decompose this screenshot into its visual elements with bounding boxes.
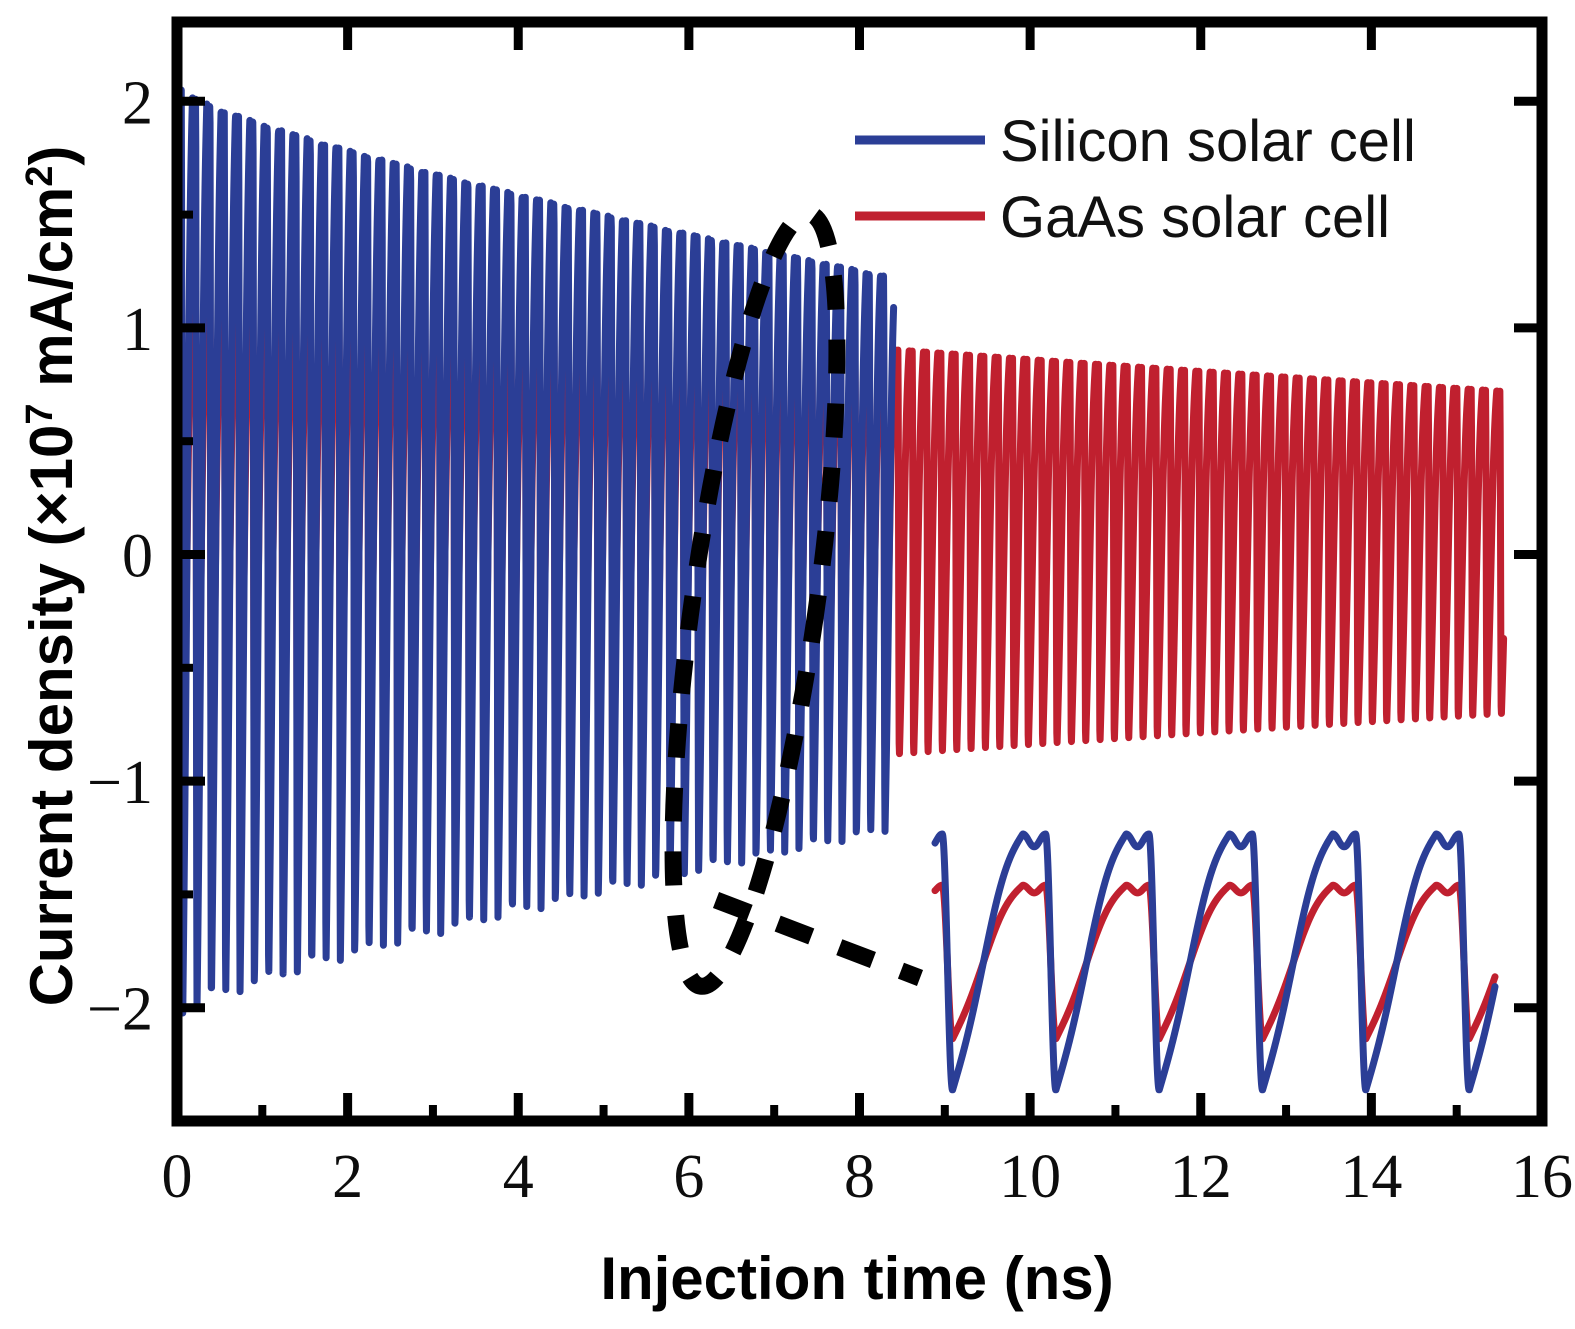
- y-axis-title-sup2: 2: [19, 166, 61, 187]
- y-axis-title-sup1: 7: [19, 403, 61, 424]
- y-axis-title-part3: ): [18, 146, 85, 166]
- x-tick-label: 10: [999, 1143, 1061, 1211]
- x-tick-label: 2: [332, 1143, 363, 1211]
- y-axis-title-part2: mA/cm: [18, 187, 85, 404]
- y-tick-label: 1: [122, 296, 153, 364]
- y-tick-label: −2: [87, 976, 153, 1044]
- legend-label-gaas: GaAs solar cell: [1000, 185, 1390, 250]
- x-tick-label: 6: [673, 1143, 704, 1211]
- chart-canvas: 0246810121416 210−1−2 Injection time (ns…: [0, 0, 1575, 1329]
- x-tick-label: 4: [503, 1143, 534, 1211]
- x-tick-label: 0: [162, 1143, 193, 1211]
- legend-label-silicon: Silicon solar cell: [1000, 109, 1416, 174]
- y-tick-label: −1: [87, 749, 153, 817]
- x-tick-label: 12: [1170, 1143, 1232, 1211]
- chart-figure: 0246810121416 210−1−2 Injection time (ns…: [0, 0, 1575, 1329]
- x-tick-label: 14: [1340, 1143, 1402, 1211]
- y-axis-title: Current density (×107 mA/cm2): [18, 146, 85, 1007]
- y-axis-title-part1: Current density (×10: [18, 425, 85, 1007]
- svg-text:Current density (×107 mA/cm2): Current density (×107 mA/cm2): [18, 146, 85, 1007]
- y-tick-label: 2: [122, 69, 153, 137]
- x-tick-label: 16: [1511, 1143, 1573, 1211]
- y-tick-label: 0: [122, 523, 153, 591]
- x-axis-title: Injection time (ns): [600, 1245, 1113, 1312]
- x-tick-label: 8: [844, 1143, 875, 1211]
